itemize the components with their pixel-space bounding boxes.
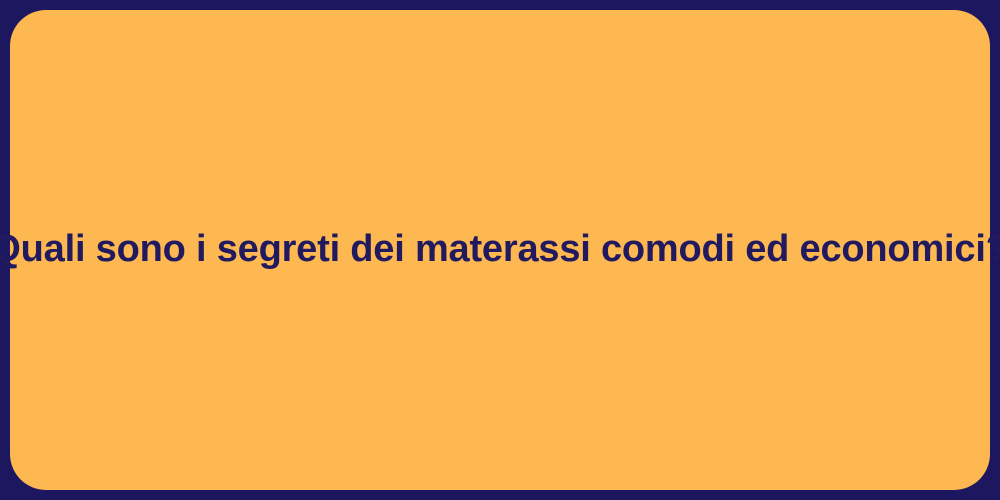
banner-heading: Quali sono i segreti dei materassi comod…	[0, 226, 1000, 274]
banner-frame: Quali sono i segreti dei materassi comod…	[0, 0, 1000, 500]
banner-panel: Quali sono i segreti dei materassi comod…	[10, 10, 990, 490]
